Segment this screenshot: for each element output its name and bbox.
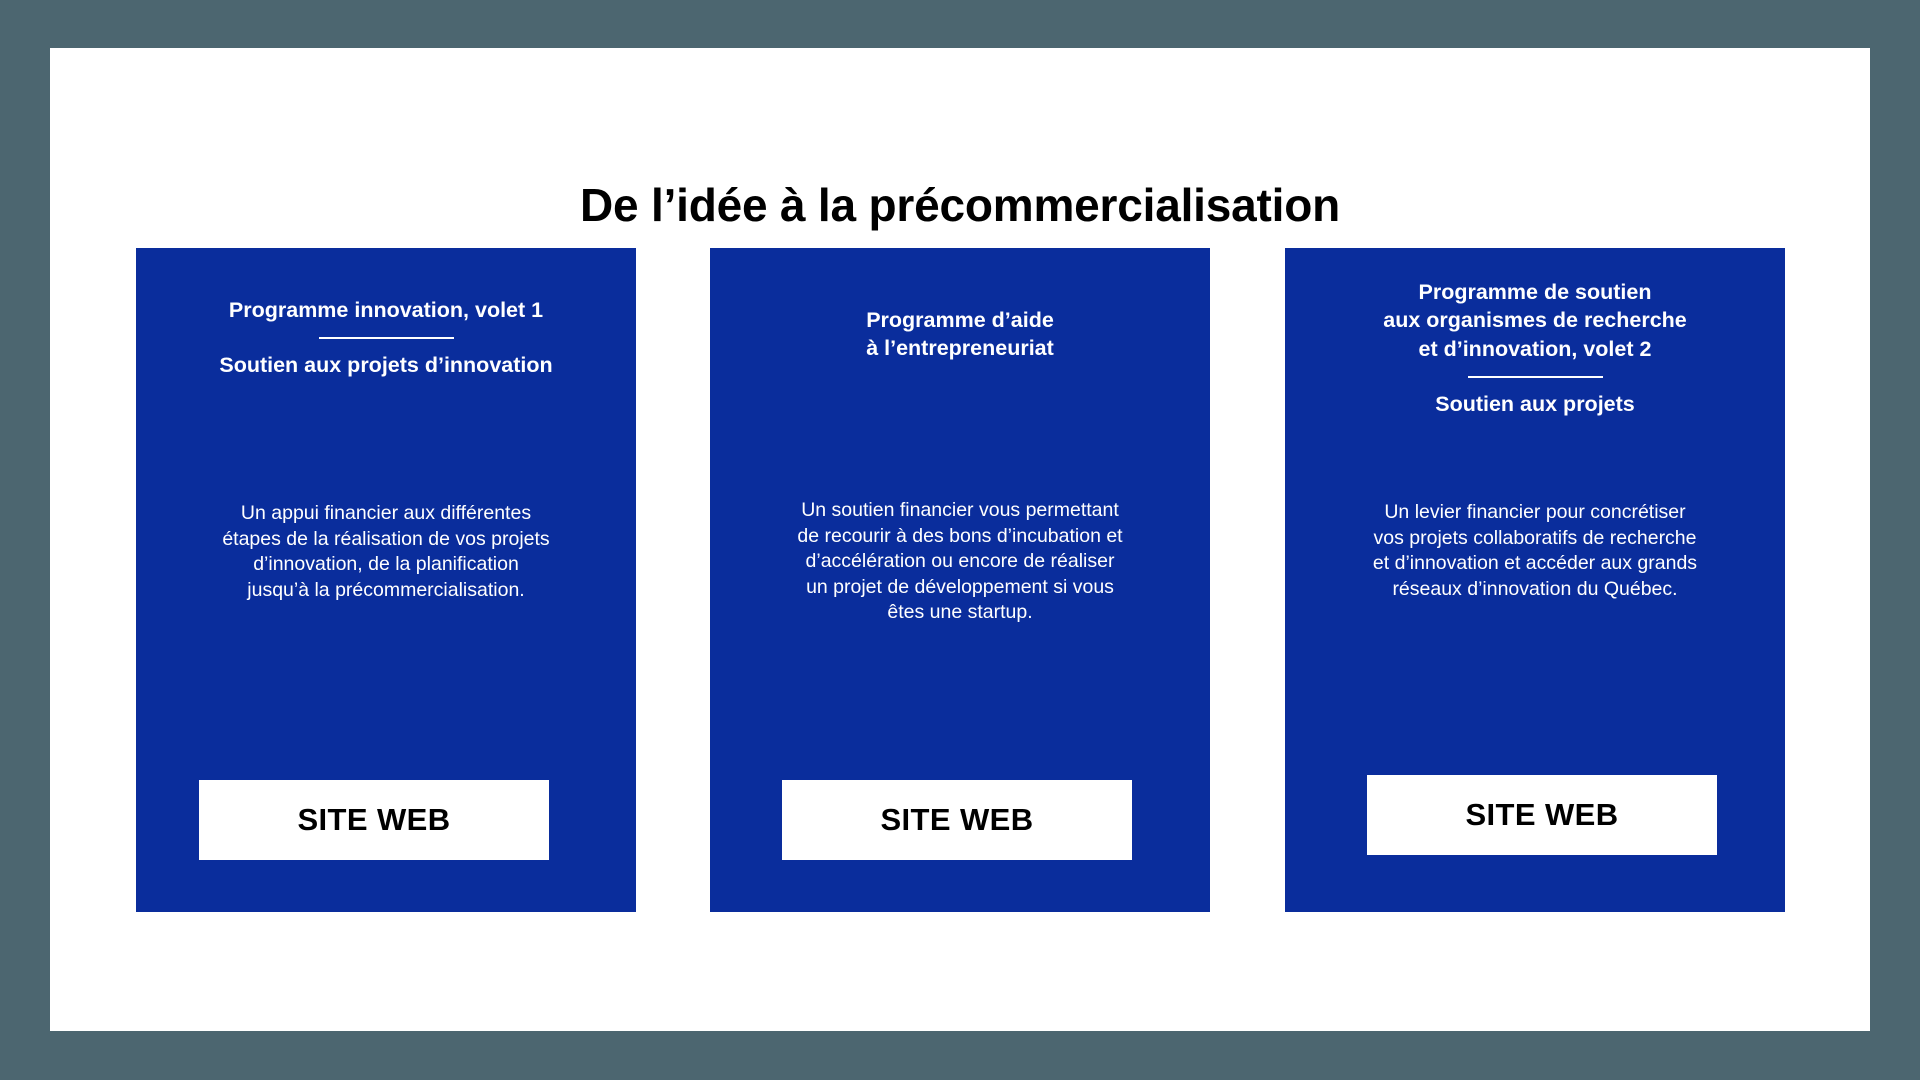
card-subtitle: Soutien aux projets d’innovation — [154, 351, 618, 379]
site-web-button[interactable]: SITE WEB — [782, 780, 1132, 860]
program-card: Programme d’aide à l’entrepreneuriat Un … — [710, 248, 1210, 912]
card-title: Programme d’aide à l’entrepreneuriat — [728, 306, 1192, 363]
card-header: Programme innovation, volet 1 Soutien au… — [136, 296, 636, 380]
program-card: Programme de soutien aux organismes de r… — [1285, 248, 1785, 912]
card-header: Programme d’aide à l’entrepreneuriat — [710, 306, 1210, 363]
card-divider — [319, 337, 454, 339]
card-header: Programme de soutien aux organismes de r… — [1285, 278, 1785, 419]
card-divider — [1468, 376, 1603, 378]
content-panel: De l’idée à la précommercialisation Prog… — [50, 48, 1870, 1031]
card-description: Un soutien financier vous permettant de … — [710, 498, 1210, 626]
slide-root: De l’idée à la précommercialisation Prog… — [0, 0, 1920, 1080]
card-title: Programme de soutien aux organismes de r… — [1303, 278, 1767, 363]
page-title: De l’idée à la précommercialisation — [50, 178, 1870, 232]
site-web-button[interactable]: SITE WEB — [199, 780, 549, 860]
card-description: Un levier financier pour concrétiser vos… — [1285, 500, 1785, 602]
card-description: Un appui financier aux différentes étape… — [136, 501, 636, 603]
site-web-button[interactable]: SITE WEB — [1367, 775, 1717, 855]
card-subtitle: Soutien aux projets — [1303, 390, 1767, 418]
card-title: Programme innovation, volet 1 — [154, 296, 618, 324]
program-card: Programme innovation, volet 1 Soutien au… — [136, 248, 636, 912]
